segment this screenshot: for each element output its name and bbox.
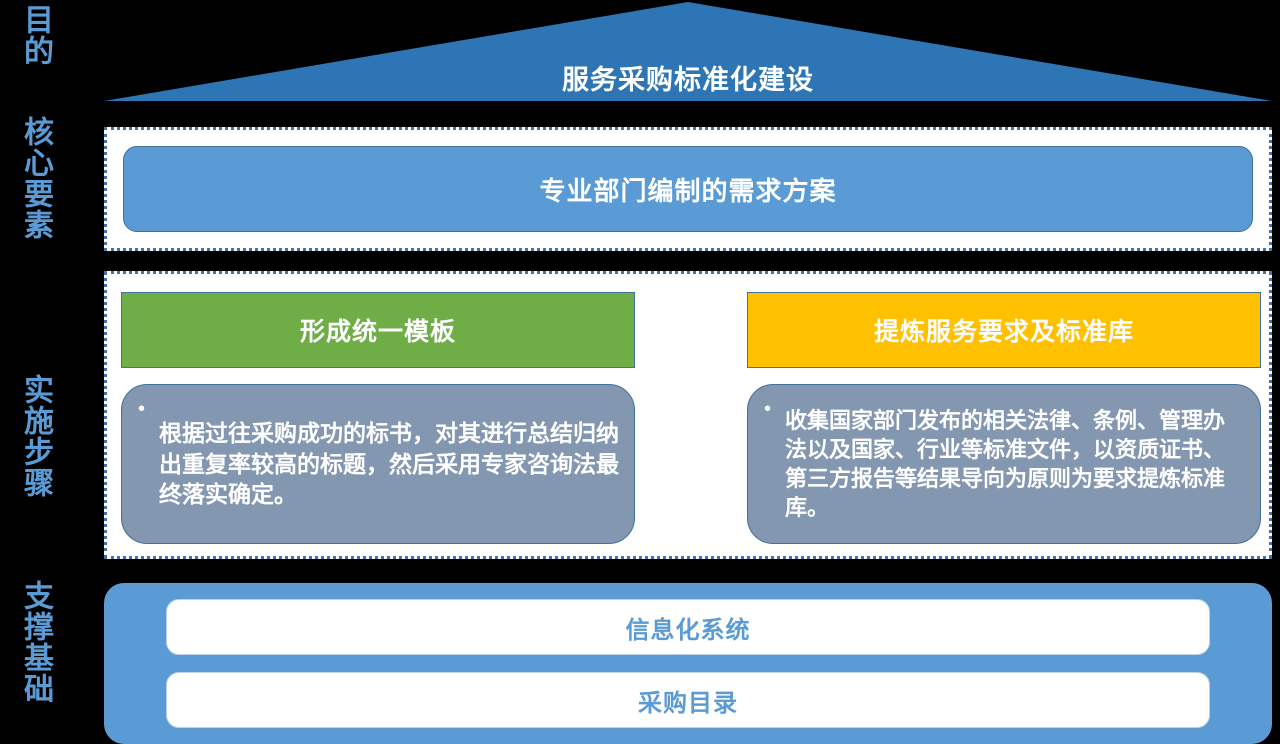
core-element-label: 专业部门编制的需求方案 <box>539 171 836 208</box>
foundation-item-label: 采购目录 <box>638 683 738 718</box>
rail-label-core-elements: 核心要素 <box>6 116 50 240</box>
diagram-title: 服务采购标准化建设 <box>104 58 1272 97</box>
core-elements-section: 专业部门编制的需求方案 <box>104 127 1272 251</box>
step-header-form-template[interactable]: 形成统一模板 <box>121 292 635 368</box>
step-column-left: 形成统一模板 • 根据过往采购成功的标书，对其进行总结归纳出重复率较高的标题，然… <box>121 292 635 544</box>
core-element-card[interactable]: 专业部门编制的需求方案 <box>123 146 1253 232</box>
rail-label-purpose: 目的 <box>6 4 50 66</box>
step-header-label: 提炼服务要求及标准库 <box>874 312 1134 348</box>
foundation-item-procurement-catalog[interactable]: 采购目录 <box>166 672 1210 728</box>
step-header-extract-standards[interactable]: 提炼服务要求及标准库 <box>747 292 1261 368</box>
rail-label-implementation-steps: 实施步骤 <box>6 374 50 498</box>
supporting-foundation-section: 信息化系统 采购目录 <box>104 583 1272 744</box>
roof-banner: 服务采购标准化建设 <box>104 2 1272 102</box>
step-body-text: 根据过往采购成功的标书，对其进行总结归纳出重复率较高的标题，然后采用专家咨询法最… <box>159 418 620 509</box>
diagram-canvas: 目的 核心要素 实施步骤 支撑基础 服务采购标准化建设 专业部门编制的需求方案 … <box>0 0 1280 744</box>
foundation-item-label: 信息化系统 <box>626 610 751 645</box>
step-body-text: 收集国家部门发布的相关法律、条例、管理办法以及国家、行业等标准文件，以资质证书、… <box>785 406 1246 522</box>
foundation-item-information-system[interactable]: 信息化系统 <box>166 599 1210 655</box>
bullet-icon: • <box>764 393 771 419</box>
step-column-right: 提炼服务要求及标准库 • 收集国家部门发布的相关法律、条例、管理办法以及国家、行… <box>747 292 1261 544</box>
step-header-label: 形成统一模板 <box>300 312 456 348</box>
step-body-extract-standards: • 收集国家部门发布的相关法律、条例、管理办法以及国家、行业等标准文件，以资质证… <box>747 384 1261 544</box>
implementation-steps-section: 形成统一模板 • 根据过往采购成功的标书，对其进行总结归纳出重复率较高的标题，然… <box>104 271 1272 559</box>
bullet-icon: • <box>138 393 145 419</box>
step-body-form-template: • 根据过往采购成功的标书，对其进行总结归纳出重复率较高的标题，然后采用专家咨询… <box>121 384 635 544</box>
rail-label-supporting-foundation: 支撑基础 <box>6 580 50 704</box>
